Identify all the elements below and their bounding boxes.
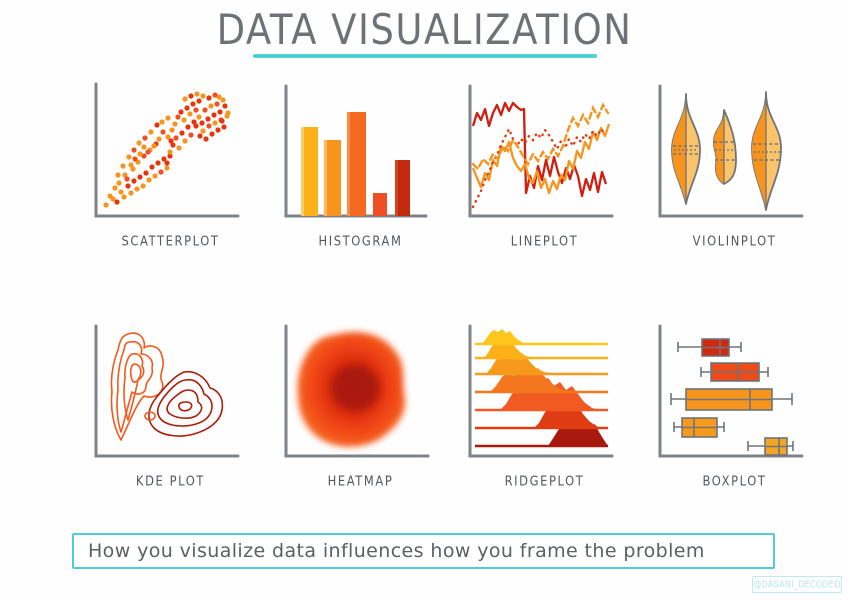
violin-group-2 — [714, 110, 736, 184]
histogram-svg — [278, 80, 433, 225]
panel-violinplot[interactable]: VIOLINPLOT — [652, 80, 817, 247]
panel-kdeplot[interactable]: KDE PLOT — [88, 320, 253, 487]
kde-contour-cluster-2 — [149, 372, 222, 436]
panel-label-lineplot: LINEPLOT — [462, 233, 627, 249]
box-3 — [671, 389, 792, 410]
panel-label-violinplot: VIOLINPLOT — [652, 233, 817, 249]
box-5 — [748, 438, 793, 455]
panel-label-kdeplot: KDE PLOT — [88, 473, 253, 489]
box-1 — [678, 339, 741, 356]
scatterplot-svg — [88, 80, 243, 225]
violinplot-figure — [652, 80, 807, 225]
violin-group-1 — [672, 94, 700, 204]
ridgeplot-svg — [462, 320, 617, 465]
heatmap-figure — [278, 320, 433, 465]
lineplot-axes — [470, 86, 612, 216]
panel-lineplot[interactable]: LINEPLOT — [462, 80, 627, 247]
panel-label-boxplot: BOXPLOT — [652, 473, 817, 489]
caption-box: How you visualize data influences how yo… — [72, 533, 775, 569]
panel-label-scatterplot: SCATTERPLOT — [88, 233, 253, 249]
panel-scatterplot[interactable]: SCATTERPLOT — [88, 80, 253, 247]
box-4 — [674, 418, 724, 437]
boxplot-svg — [652, 320, 807, 465]
heatmap-core — [332, 366, 380, 410]
heatmap-svg — [278, 320, 433, 465]
ridgeplot-figure — [462, 320, 617, 465]
lineplot-svg — [462, 80, 617, 225]
lineplot-figure — [462, 80, 617, 225]
page-title: DATA VISUALIZATION — [211, 6, 639, 56]
panel-boxplot[interactable]: BOXPLOT — [652, 320, 817, 487]
panel-histogram[interactable]: HISTOGRAM — [278, 80, 443, 247]
ridge-1 — [475, 329, 608, 344]
scatterplot-figure — [88, 80, 243, 225]
watermark-text: @DASANI_DECODED — [753, 579, 841, 590]
histogram-bars — [301, 112, 410, 216]
watermark-badge: @DASANI_DECODED — [752, 576, 842, 593]
caption-text: How you visualize data influences how yo… — [74, 540, 705, 562]
kde-contour-satellite — [145, 412, 155, 420]
title-block: DATA VISUALIZATION — [0, 6, 849, 58]
panel-label-ridgeplot: RIDGEPLOT — [462, 473, 627, 489]
lineplot-series-2 — [473, 124, 609, 193]
panel-heatmap[interactable]: HEATMAP — [278, 320, 443, 487]
histogram-figure — [278, 80, 433, 225]
scatterplot-points — [103, 91, 230, 207]
violinplot-svg — [652, 80, 807, 225]
boxplot-figure — [652, 320, 807, 465]
panel-label-histogram: HISTOGRAM — [278, 233, 443, 249]
violin-group-3 — [752, 92, 781, 210]
panel-label-heatmap: HEATMAP — [278, 473, 443, 489]
panel-ridgeplot[interactable]: RIDGEPLOT — [462, 320, 627, 487]
box-2 — [701, 363, 768, 381]
kde-contour-cluster-1 — [111, 333, 163, 440]
kdeplot-figure — [88, 320, 243, 465]
kdeplot-svg — [88, 320, 243, 465]
